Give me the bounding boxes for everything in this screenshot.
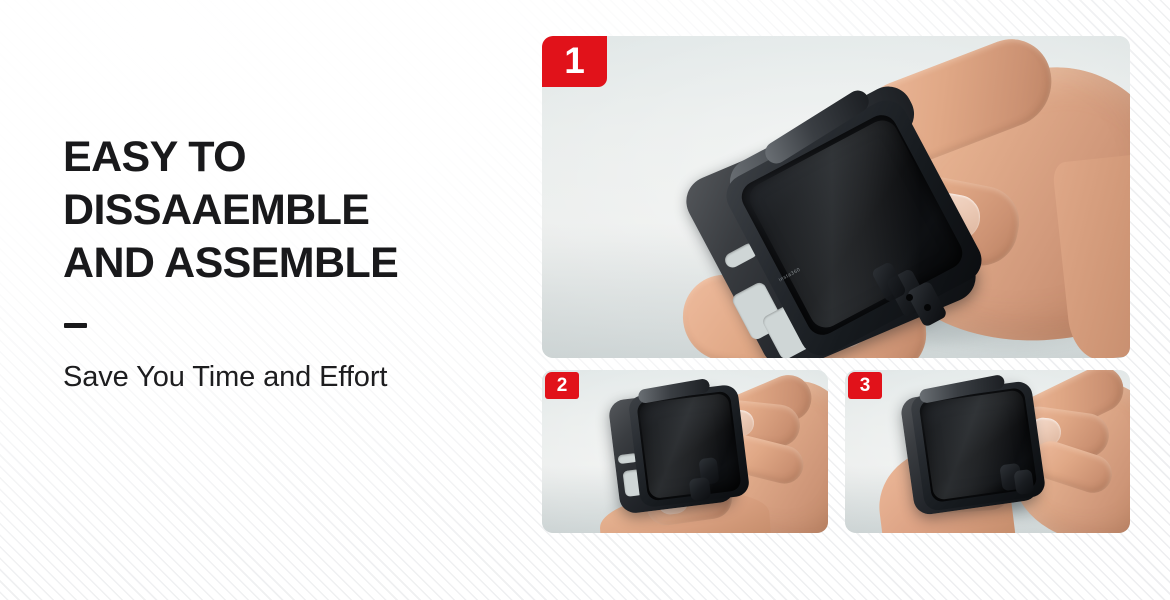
photo-scene-3 [845,370,1130,533]
page-title: EASY TO DISSAAEMBLE AND ASSEMBLE [63,131,518,290]
step-photo-3: 3 [845,370,1130,533]
step-badge-2: 2 [545,372,579,399]
step-badge-3: 3 [848,372,882,399]
photo-scene-1: insta360 [542,36,1130,358]
promo-banner: EASY TO DISSAAEMBLE AND ASSEMBLE Save Yo… [0,0,1170,600]
step-badge-1: 1 [542,36,607,87]
divider-dash [64,323,87,328]
photo-scene-2 [542,370,828,533]
step-photo-1: insta360 1 [542,36,1130,358]
step-photo-2: 2 [542,370,828,533]
subtitle: Save You Time and Effort [63,359,518,395]
text-block: EASY TO DISSAAEMBLE AND ASSEMBLE Save Yo… [63,131,518,395]
